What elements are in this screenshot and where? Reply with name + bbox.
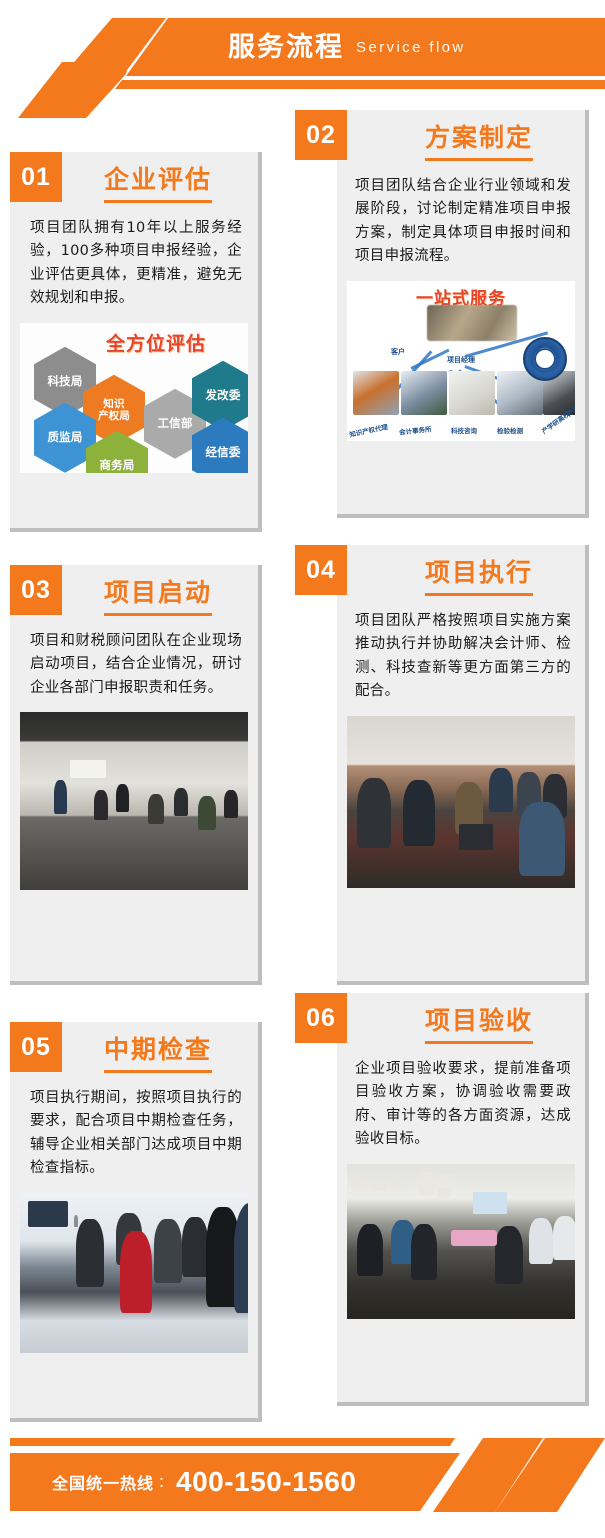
onestop-thumb-1: [353, 371, 399, 415]
site-visit-photo: [20, 1193, 248, 1353]
onestop-thumb-3: [449, 371, 495, 415]
page-footer: 全国统一热线 ： 400-150-1560: [0, 1420, 605, 1538]
card-number-badge-03: 03: [10, 565, 62, 615]
card-heading-02: 方案制定: [337, 110, 585, 161]
hotline-group: 全国统一热线 ： 400-150-1560: [52, 1453, 356, 1511]
card-title-01: 企业评估: [104, 166, 212, 203]
card-body-02: 项目团队结合企业行业领域和发展阶段，讨论制定精准项目申报方案，制定具体项目申报时…: [337, 161, 585, 277]
onestop-node-customer: 客户: [391, 347, 405, 357]
onestop-team-photo: [427, 305, 517, 341]
hexagon-diagram-title: 全方位评估: [106, 329, 206, 356]
card-figure-05: [20, 1193, 248, 1353]
hotline-number[interactable]: 400-150-1560: [176, 1466, 356, 1498]
step-card-05: 中期检查 项目执行期间，按照项目执行的要求，配合项目中期检查任务，辅导企业相关部…: [10, 1022, 262, 1422]
card-figure-06: [347, 1164, 575, 1319]
onestop-node-manager: 项目经理: [447, 355, 475, 365]
card-number-badge-02: 02: [295, 110, 347, 160]
card-body-06: 企业项目验收要求，提前准备项目验收方案，协调验收需要政府、审计等的各方面资源，达…: [337, 1044, 585, 1160]
card-figure-01: 全方位评估 科技局 知识产权局 质监局 工信部 商务局 发改委 经信委: [20, 323, 248, 473]
card-body-04: 项目团队严格按照项目实施方案推动执行并协助解决会计师、检测、科技查新等更方面第三…: [337, 596, 585, 712]
hotline-colon: ：: [158, 1472, 172, 1492]
step-card-02: 方案制定 项目团队结合企业行业领域和发展阶段，讨论制定精准项目申报方案，制定具体…: [337, 110, 589, 518]
working-session-photo: [347, 716, 575, 888]
page-subtitle: Service flow: [356, 40, 466, 55]
card-title-06: 项目验收: [425, 1007, 533, 1044]
hexagon-assessment-diagram: 全方位评估 科技局 知识产权局 质监局 工信部 商务局 发改委 经信委: [20, 323, 248, 473]
card-heading-06: 项目验收: [337, 993, 585, 1044]
iso-seal-icon: [523, 337, 567, 381]
page-title: 服务流程: [228, 34, 344, 61]
card-title-02: 方案制定: [425, 124, 533, 161]
photo-figures-05: [20, 1193, 248, 1353]
card-figure-04: [347, 716, 575, 888]
photo-figures-03: [20, 712, 248, 890]
card-number-badge-04: 04: [295, 545, 347, 595]
card-number-badge-06: 06: [295, 993, 347, 1043]
card-number-badge-01: 01: [10, 152, 62, 202]
onestop-caption-3: 科技咨询: [451, 425, 477, 435]
page-header: 服务流程 Service flow: [0, 0, 605, 118]
meeting-room-photo: [20, 712, 248, 890]
photo-figures-04: [347, 716, 575, 888]
step-card-06: 项目验收 企业项目验收要求，提前准备项目验收方案，协调验收需要政府、审计等的各方…: [337, 993, 589, 1406]
card-number-badge-05: 05: [10, 1022, 62, 1072]
one-stop-service-diagram: 一站式服务 客户 项目经理 知识产权代理 会计事务所 科技咨询 检验检测 产学研…: [347, 281, 575, 441]
photo-figures-06: [347, 1164, 575, 1319]
onestop-caption-2: 会计事务所: [399, 423, 432, 436]
onestop-caption-1: 知识产权代理: [348, 421, 388, 439]
header-title-group: 服务流程 Service flow: [0, 18, 605, 76]
card-body-01: 项目团队拥有10年以上服务经验，100多种项目申报经验，企业评估更具体，更精准，…: [10, 203, 258, 319]
card-title-04: 项目执行: [425, 559, 533, 596]
card-body-05: 项目执行期间，按照项目执行的要求，配合项目中期检查任务，辅导企业相关部门达成项目…: [10, 1073, 258, 1189]
card-body-03: 项目和财税顾问团队在企业现场启动项目，结合企业情况，研讨企业各部门申报职责和任务…: [10, 616, 258, 708]
card-title-05: 中期检查: [104, 1036, 212, 1073]
card-figure-02: 一站式服务 客户 项目经理 知识产权代理 会计事务所 科技咨询 检验检测 产学研…: [347, 281, 575, 441]
hotline-label: 全国统一热线: [52, 1470, 154, 1494]
step-card-04: 项目执行 项目团队严格按照项目实施方案推动执行并协助解决会计师、检测、科技查新等…: [337, 545, 589, 985]
card-figure-03: [20, 712, 248, 890]
step-card-01: 企业评估 项目团队拥有10年以上服务经验，100多种项目申报经验，企业评估更具体…: [10, 152, 262, 532]
onestop-thumb-2: [401, 371, 447, 415]
card-heading-04: 项目执行: [337, 545, 585, 596]
card-title-03: 项目启动: [104, 579, 212, 616]
step-card-03: 项目启动 项目和财税顾问团队在企业现场启动项目，结合企业情况，研讨企业各部门申报…: [10, 565, 262, 985]
acceptance-meeting-photo: [347, 1164, 575, 1319]
onestop-caption-4: 检验检测: [497, 425, 523, 435]
